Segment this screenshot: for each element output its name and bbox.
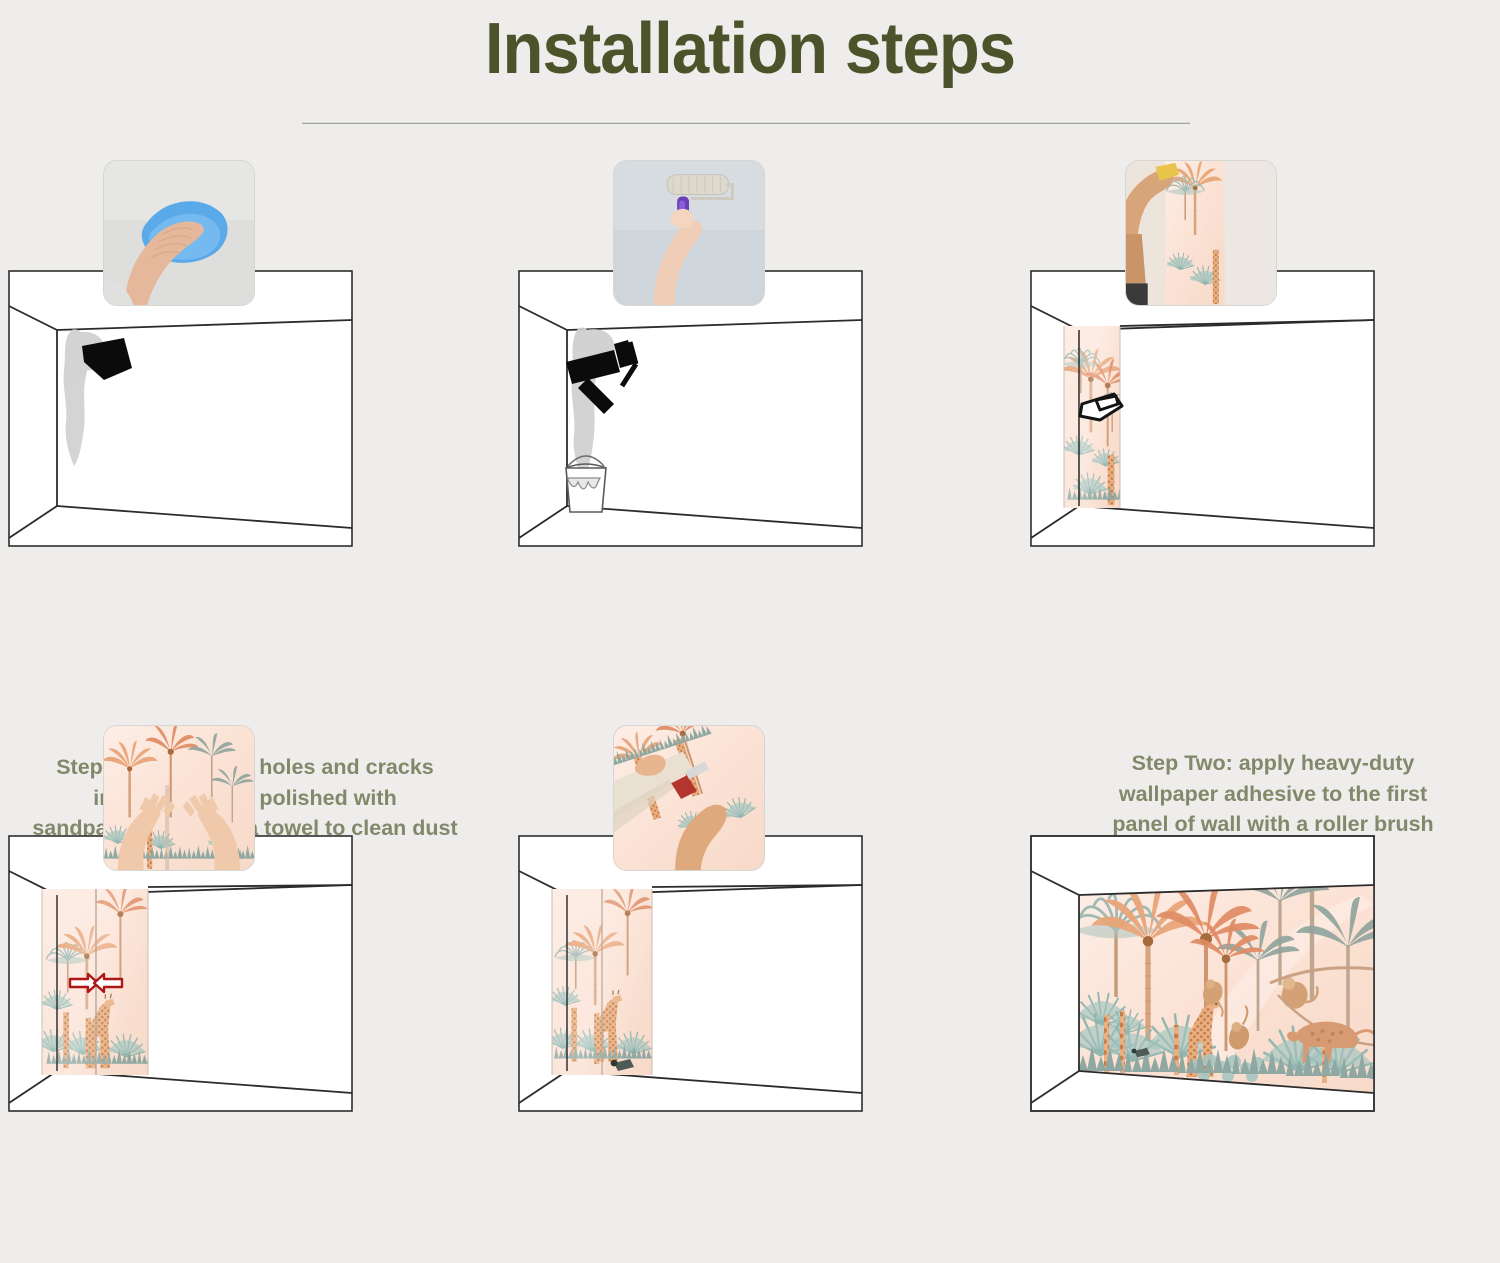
inset-photo-paint-roller <box>613 160 765 306</box>
room-diagram-step-four <box>8 835 353 1112</box>
room-diagram-step-two <box>518 270 863 547</box>
installation-steps-page: Installation steps <box>0 0 1500 1263</box>
inset-photo-cutting-wallpaper <box>613 725 765 871</box>
step-four-figure <box>0 725 490 1140</box>
step-one-figure <box>0 160 490 575</box>
step-five-figure <box>510 725 1000 1140</box>
page-title: Installation steps <box>53 8 1448 91</box>
step-four: Step Four: slowly slide the second panel… <box>0 725 490 1140</box>
step-two-figure <box>510 160 1000 575</box>
step-one: Step One: patch up holes and cracks in t… <box>0 160 490 575</box>
title-divider <box>302 122 1190 124</box>
room-diagram-step-three <box>1030 270 1375 547</box>
inset-photo-aligning-panels <box>103 725 255 871</box>
step-six: Step Six:In accordance with the above st… <box>1022 725 1500 1140</box>
step-three-figure <box>1022 160 1500 575</box>
room-diagram-step-six <box>1030 835 1375 1112</box>
step-six-figure <box>1022 725 1500 1140</box>
inset-photo-smoothing-wallpaper <box>1125 160 1277 306</box>
room-diagram-step-one <box>8 270 353 547</box>
step-two: Step Two: apply heavy-duty wallpaper adh… <box>510 160 1000 575</box>
step-five: Step Five: Use a knife or a pair of scis… <box>510 725 1000 1140</box>
inset-photo-hand-with-blue-cloth <box>103 160 255 306</box>
room-diagram-step-five <box>518 835 863 1112</box>
step-three: Step Three: paste the first panel and sm… <box>1022 160 1500 575</box>
